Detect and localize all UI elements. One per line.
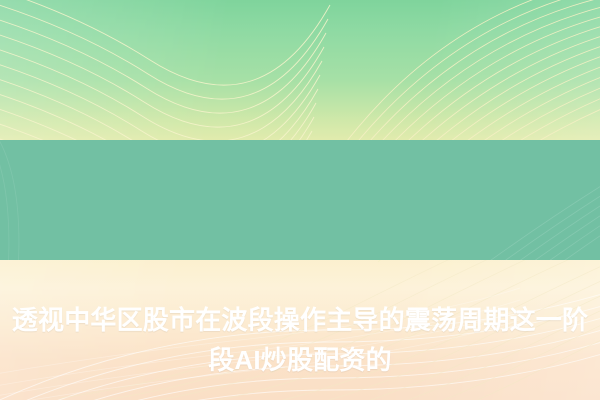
arc-fan-icon-band-left bbox=[0, 140, 19, 260]
arc-fan-icon-band-right bbox=[480, 162, 600, 260]
band-decorative-arcs bbox=[0, 140, 600, 260]
headline-text: 透视中华区股市在波段操作主导的震荡周期这一阶 段AI炒股配资的 bbox=[0, 300, 600, 380]
headline-band: 透视中华区股市在波段操作主导的震荡周期这一阶 段AI炒股配资的 bbox=[0, 140, 600, 260]
banner-image: 透视中华区股市在波段操作主导的震荡周期这一阶 段AI炒股配资的 bbox=[0, 0, 600, 400]
